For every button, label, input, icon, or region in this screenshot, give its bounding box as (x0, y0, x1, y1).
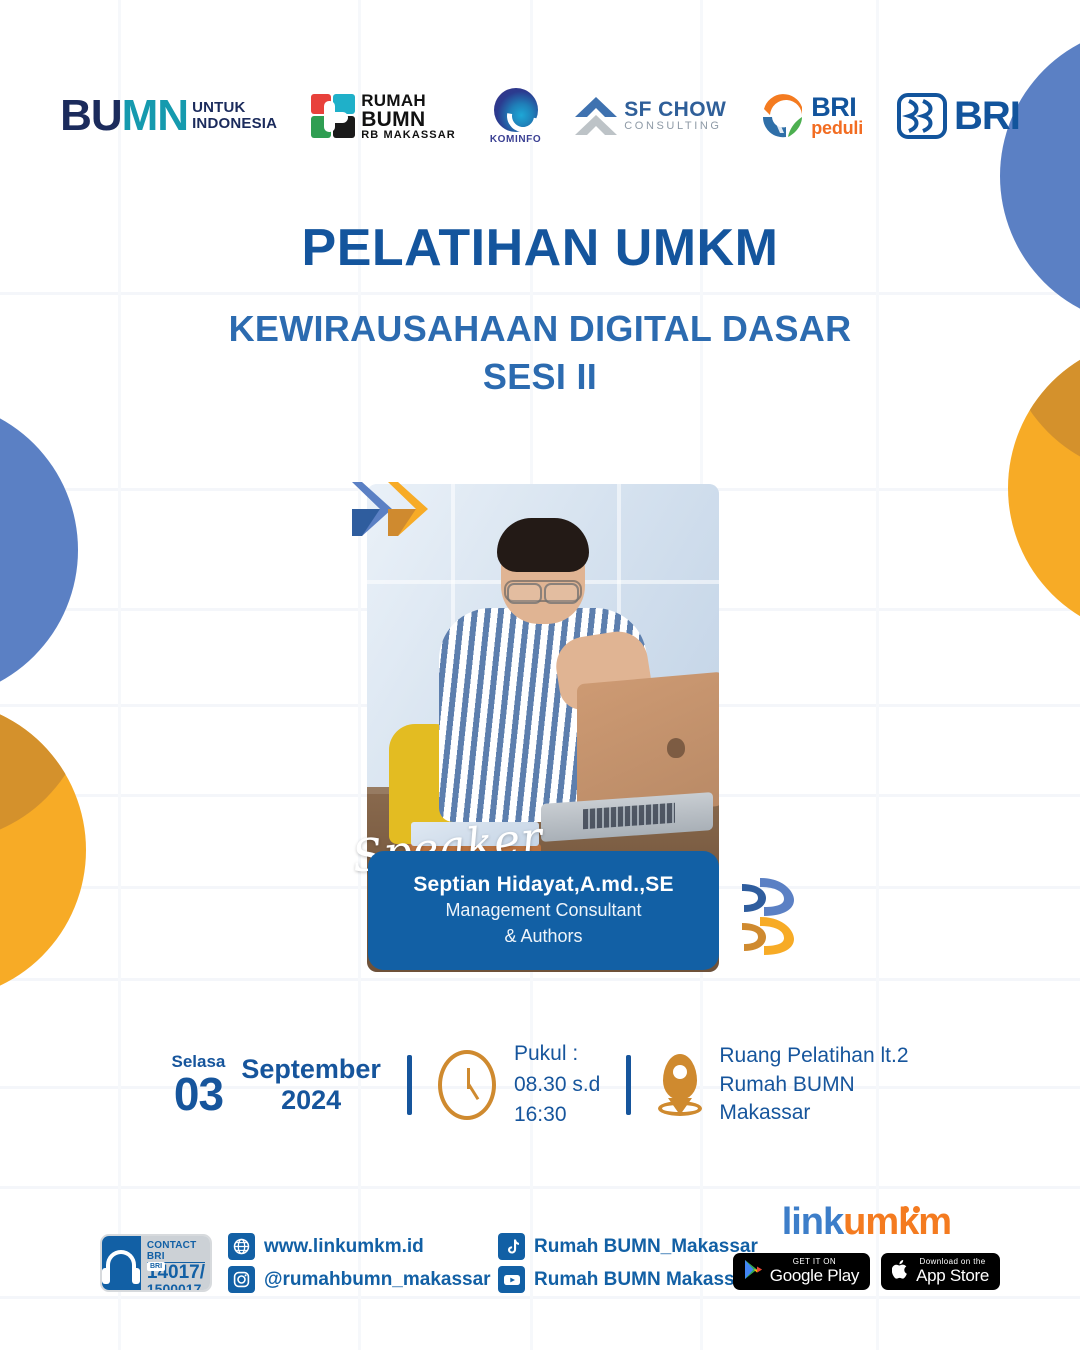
bumn-tagline-line1: UNTUK (192, 100, 277, 116)
divider (407, 1055, 412, 1115)
logo-bri: BRI (897, 93, 1020, 139)
bumn-tagline-line2: INDONESIA (192, 116, 277, 132)
event-location-text: Ruang Pelatihan lt.2 Rumah BUMN Makassar (719, 1042, 908, 1127)
bg-gridline (358, 0, 361, 1350)
bri-peduli-line1: BRI (811, 95, 863, 121)
deco-circle-blue-left (0, 400, 78, 700)
rumah-bumn-line2: BUMN (361, 109, 456, 130)
rumah-bumn-wordmark: RUMAH BUMN RB MAKASSAR (361, 92, 456, 141)
bri-peduli-wordmark: BRI peduli (811, 95, 863, 138)
bg-gridline (876, 0, 879, 1350)
event-location-line3: Makassar (719, 1099, 908, 1127)
partner-logo-row: BUMN UNTUK INDONESIA RUMAH BUMN RB MAKAS… (0, 74, 1080, 158)
bri-peduli-line2: peduli (811, 120, 863, 137)
kominfo-icon (494, 88, 538, 132)
sf-chow-line2: CONSULTING (624, 121, 726, 133)
event-date: Selasa 03 September 2024 (172, 1053, 381, 1118)
page-subtitle: KEWIRAUSAHAAN DIGITAL DASAR (0, 308, 1080, 350)
bumn-tagline: UNTUK INDONESIA (192, 100, 277, 132)
event-location-line1: Ruang Pelatihan lt.2 (719, 1042, 908, 1070)
rumah-bumn-line1: RUMAH (361, 92, 456, 109)
divider (626, 1055, 631, 1115)
photo-person-glasses (504, 580, 582, 602)
logo-rumah-bumn: RUMAH BUMN RB MAKASSAR (311, 92, 456, 141)
rumah-bumn-line3: RB MAKASSAR (361, 130, 456, 141)
speaker-role-line1: Management Consultant (445, 899, 641, 922)
sf-chow-line1: SF CHOW (624, 99, 726, 121)
event-month: September (241, 1054, 381, 1085)
photo-person-hair (497, 518, 589, 572)
event-time-text: Pukul : 08.30 s.d 16:30 (514, 1039, 600, 1130)
event-time-line2: 08.30 s.d (514, 1070, 600, 1100)
double-chevron-icon (352, 478, 432, 540)
deco-b-monogram-icon (738, 876, 798, 956)
bri-wordmark: BRI (954, 96, 1020, 136)
event-time: Pukul : 08.30 s.d 16:30 (438, 1039, 600, 1130)
apple-logo-icon (667, 738, 685, 758)
rumah-bumn-icon (311, 94, 355, 138)
speaker-info-card: Septian Hidayat,A.md.,SE Management Cons… (368, 851, 719, 970)
logo-sf-chow: SF CHOW CONSULTING (575, 95, 726, 137)
bumn-letter-u: U (91, 91, 122, 140)
bri-monogram-icon (897, 93, 947, 139)
logo-bri-peduli: BRI peduli (760, 93, 863, 139)
logo-bumn-untuk-indonesia: BUMN UNTUK INDONESIA (60, 94, 277, 138)
event-info-bar: Selasa 03 September 2024 Pukul : 08.30 s… (0, 1035, 1080, 1135)
poster-title-block: PELATIHAN UMKM KEWIRAUSAHAAN DIGITAL DAS… (0, 218, 1080, 398)
page-session-label: SESI II (0, 356, 1080, 398)
event-day-number: 03 (172, 1071, 226, 1117)
event-location: Ruang Pelatihan lt.2 Rumah BUMN Makassar (657, 1042, 908, 1127)
bg-gridline (0, 978, 1080, 981)
event-date-day: Selasa 03 (172, 1053, 226, 1118)
kominfo-label: KOMINFO (490, 134, 541, 145)
bri-peduli-icon (760, 93, 806, 139)
bumn-letter-b: B (60, 91, 91, 140)
event-location-line2: Rumah BUMN (719, 1071, 908, 1099)
sf-chow-wordmark: SF CHOW CONSULTING (624, 99, 726, 133)
location-pin-icon (657, 1054, 703, 1116)
logo-kominfo: KOMINFO (490, 88, 541, 145)
bg-gridline (118, 0, 121, 1350)
sf-chow-chevron-icon (575, 95, 617, 137)
event-month-year: September 2024 (241, 1054, 381, 1116)
page-title: PELATIHAN UMKM (0, 218, 1080, 278)
bumn-wordmark: BUMN (60, 94, 188, 138)
event-year: 2024 (241, 1085, 381, 1116)
clock-icon (438, 1050, 496, 1120)
speaker-role-line2: & Authors (504, 925, 582, 948)
bumn-letters-mn: MN (122, 91, 188, 140)
bg-gridline (0, 1186, 1080, 1189)
poster-footer (0, 1195, 1080, 1315)
speaker-name: Septian Hidayat,A.md.,SE (413, 873, 673, 897)
event-time-line3: 16:30 (514, 1100, 600, 1130)
event-time-line1: Pukul : (514, 1039, 600, 1069)
